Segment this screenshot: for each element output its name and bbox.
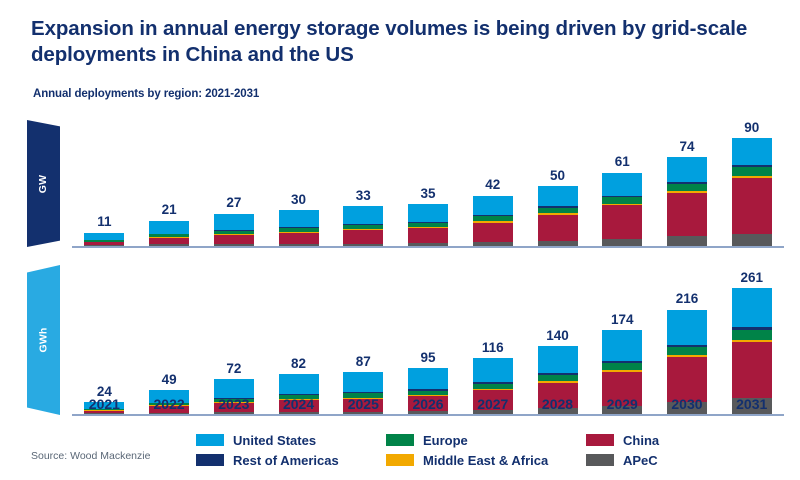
axis-label-tab-gw: GW	[27, 120, 60, 247]
bar-total-label: 95	[421, 351, 436, 365]
bar-segment	[732, 342, 772, 398]
bar-segment	[214, 235, 254, 244]
bar-total-label: 74	[679, 140, 694, 154]
bar-segment	[343, 206, 383, 224]
legend-item[interactable]: China	[586, 430, 766, 450]
bar-column: 140	[525, 268, 590, 414]
legend-label: China	[623, 433, 659, 448]
x-axis-tick-label: 2031	[719, 396, 784, 418]
bar-group-gw: 1121273033354250617490	[72, 118, 784, 246]
bar-segment	[408, 204, 448, 222]
bar-segment	[602, 173, 642, 196]
x-axis-tick-label: 2025	[331, 396, 396, 418]
bar-segment	[279, 210, 319, 227]
x-axis-tick-label: 2029	[590, 396, 655, 418]
legend-swatch-icon	[386, 434, 414, 446]
bar-segment	[473, 358, 513, 382]
bar-segment	[667, 184, 707, 191]
bar-segment	[538, 346, 578, 373]
stacked-bar	[538, 186, 578, 246]
bar-segment	[473, 223, 513, 243]
legend-item[interactable]: Europe	[386, 430, 586, 450]
bar-segment	[214, 214, 254, 230]
bar-total-label: 33	[356, 189, 371, 203]
bar-total-label: 116	[482, 341, 504, 355]
x-axis-tick-label: 2030	[655, 396, 720, 418]
bar-segment	[343, 372, 383, 392]
chart-canvas: Expansion in annual energy storage volum…	[0, 0, 800, 480]
stacked-bar	[149, 221, 189, 246]
bar-column: 74	[655, 118, 720, 246]
axis-line-gw	[72, 246, 784, 248]
axis-label-tab-gwh: GWh	[27, 265, 60, 415]
legend-item[interactable]: APeC	[586, 450, 766, 470]
x-axis-tick-label: 2021	[72, 396, 137, 418]
bar-column: 50	[525, 118, 590, 246]
bar-total-label: 50	[550, 169, 565, 183]
bar-segment	[473, 196, 513, 216]
bar-total-label: 90	[744, 121, 759, 135]
stacked-bar	[279, 210, 319, 246]
bar-segment	[732, 167, 772, 175]
bar-column: 90	[719, 118, 784, 246]
bar-column: 116	[460, 268, 525, 414]
bar-column: 174	[590, 268, 655, 414]
bar-total-label: 49	[162, 373, 177, 387]
bar-segment	[602, 205, 642, 239]
bar-total-label: 140	[546, 329, 569, 343]
bar-segment	[667, 157, 707, 181]
bar-group-gwh: 244972828795116140174216261	[72, 268, 784, 414]
x-axis-tick-label: 2028	[525, 396, 590, 418]
bar-segment	[602, 363, 642, 370]
bar-total-label: 11	[97, 215, 111, 229]
bar-segment	[84, 233, 124, 240]
chart-panel-gw: 1121273033354250617490	[72, 118, 784, 248]
bar-segment	[667, 347, 707, 355]
bar-total-label: 87	[356, 355, 371, 369]
legend-label: Middle East & Africa	[423, 453, 548, 468]
legend-label: Europe	[423, 433, 468, 448]
legend-item[interactable]: United States	[196, 430, 386, 450]
legend-swatch-icon	[196, 434, 224, 446]
stacked-bar	[602, 173, 642, 246]
bar-segment	[343, 230, 383, 243]
bar-segment	[667, 310, 707, 345]
x-axis-tick-label: 2022	[137, 396, 202, 418]
bar-column: 24	[72, 268, 137, 414]
legend-label: Rest of Americas	[233, 453, 339, 468]
x-axis-tick-label: 2024	[266, 396, 331, 418]
bar-column: 33	[331, 118, 396, 246]
stacked-bar	[343, 206, 383, 246]
bar-total-label: 82	[291, 357, 306, 371]
bar-segment	[408, 228, 448, 243]
bar-column: 72	[201, 268, 266, 414]
bar-column: 82	[266, 268, 331, 414]
bar-segment	[732, 288, 772, 327]
legend-swatch-icon	[196, 454, 224, 466]
bar-total-label: 30	[291, 193, 306, 207]
chart-panel-gwh: 244972828795116140174216261	[72, 268, 784, 416]
legend: United StatesRest of AmericasEuropeMiddl…	[196, 430, 796, 470]
bar-segment	[667, 193, 707, 237]
bar-segment	[732, 178, 772, 234]
bar-total-label: 72	[226, 362, 241, 376]
stacked-bar	[732, 138, 772, 246]
x-axis-tick-label: 2027	[460, 396, 525, 418]
legend-swatch-icon	[586, 454, 614, 466]
bar-segment	[667, 236, 707, 246]
bar-total-label: 27	[226, 196, 241, 210]
bar-total-label: 174	[611, 313, 634, 327]
stacked-bar	[473, 196, 513, 246]
bar-segment	[538, 186, 578, 206]
page-title: Expansion in annual energy storage volum…	[31, 16, 751, 68]
stacked-bar	[214, 214, 254, 246]
bar-column: 216	[655, 268, 720, 414]
bar-segment	[732, 234, 772, 246]
stacked-bar	[408, 204, 448, 246]
legend-item[interactable]: Rest of Americas	[196, 450, 386, 470]
axis-label-gwh: GWh	[38, 327, 50, 352]
x-axis-labels: 2021202220232024202520262027202820292030…	[72, 396, 784, 418]
legend-label: United States	[233, 433, 316, 448]
bar-total-label: 261	[740, 271, 763, 285]
bar-column: 61	[590, 118, 655, 246]
legend-swatch-icon	[586, 434, 614, 446]
bar-segment	[149, 221, 189, 234]
bar-column: 27	[201, 118, 266, 246]
bar-column: 21	[137, 118, 202, 246]
bar-column: 87	[331, 268, 396, 414]
bar-column: 49	[137, 268, 202, 414]
bar-total-label: 21	[162, 203, 177, 217]
bar-column: 35	[396, 118, 461, 246]
axis-label-gw: GW	[37, 174, 49, 192]
chart-subtitle: Annual deployments by region: 2021-2031	[33, 88, 259, 100]
bar-segment	[408, 368, 448, 389]
bar-segment	[279, 233, 319, 244]
bar-column: 30	[266, 118, 331, 246]
bar-segment	[279, 374, 319, 394]
bar-total-label: 216	[676, 292, 699, 306]
bar-column: 42	[460, 118, 525, 246]
bar-total-label: 61	[615, 155, 630, 169]
bar-column: 261	[719, 268, 784, 414]
bar-segment	[149, 238, 189, 245]
bar-column: 11	[72, 118, 137, 246]
bar-total-label: 42	[485, 178, 500, 192]
legend-label: APeC	[623, 453, 658, 468]
stacked-bar	[667, 157, 707, 246]
source-note: Source: Wood Mackenzie	[31, 450, 150, 462]
bar-segment	[602, 330, 642, 361]
bar-segment	[732, 330, 772, 340]
legend-swatch-icon	[386, 454, 414, 466]
x-axis-tick-label: 2026	[396, 396, 461, 418]
x-axis-tick-label: 2023	[201, 396, 266, 418]
bar-segment	[538, 215, 578, 241]
bar-column: 95	[396, 268, 461, 414]
bar-segment	[602, 239, 642, 246]
legend-item[interactable]: Middle East & Africa	[386, 450, 586, 470]
bar-total-label: 35	[421, 187, 436, 201]
bar-segment	[732, 138, 772, 165]
stacked-bar	[84, 233, 124, 246]
